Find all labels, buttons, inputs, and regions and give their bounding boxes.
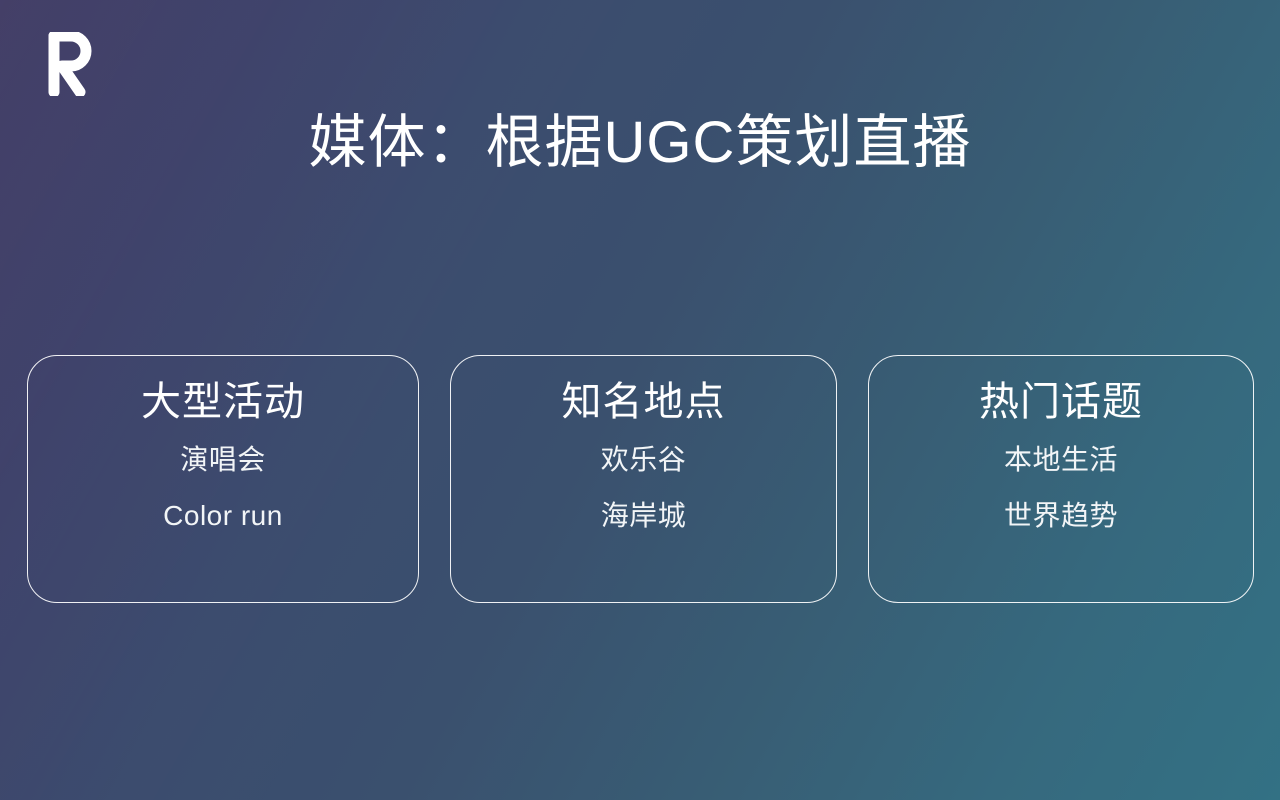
card-group: 大型活动 演唱会 Color run 知名地点 欢乐谷 海岸城 热门话题 本地生… xyxy=(27,355,1254,603)
card-item: 本地生活 xyxy=(1004,443,1118,477)
card-item: Color run xyxy=(163,499,283,533)
card-title: 热门话题 xyxy=(979,378,1143,426)
card-large-events: 大型活动 演唱会 Color run xyxy=(27,355,419,603)
card-item: 海岸城 xyxy=(601,499,687,533)
card-hot-topics: 热门话题 本地生活 世界趋势 xyxy=(868,355,1254,603)
letter-r-logo-icon xyxy=(38,28,100,100)
slide-title: 媒体：根据UGC策划直播 xyxy=(0,107,1280,179)
presentation-slide: 媒体：根据UGC策划直播 大型活动 演唱会 Color run 知名地点 欢乐谷… xyxy=(0,0,1280,800)
card-item: 演唱会 xyxy=(180,443,266,477)
card-item: 世界趋势 xyxy=(1004,499,1118,533)
card-title: 大型活动 xyxy=(141,378,305,426)
card-title: 知名地点 xyxy=(562,378,726,426)
card-item: 欢乐谷 xyxy=(601,443,687,477)
card-famous-places: 知名地点 欢乐谷 海岸城 xyxy=(450,355,837,603)
